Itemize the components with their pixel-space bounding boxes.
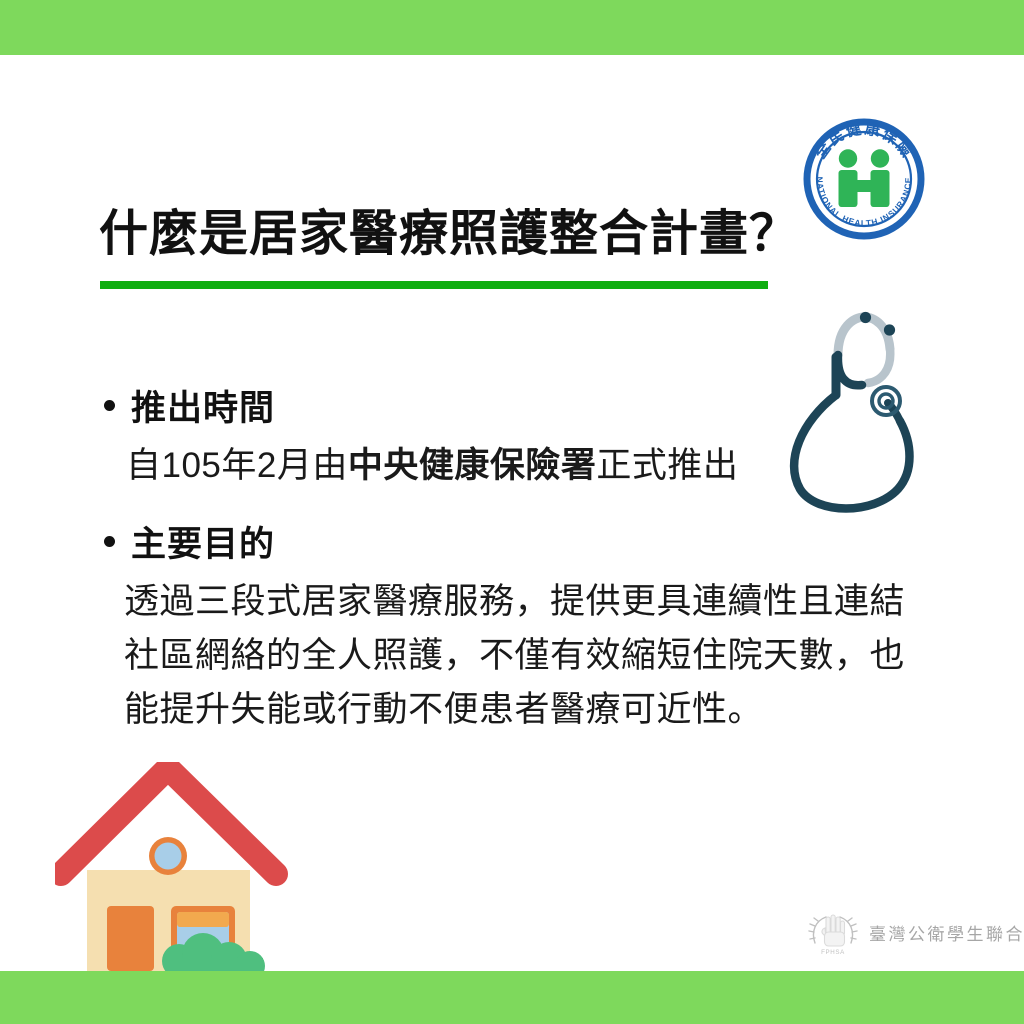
top-green-band: [0, 0, 1024, 55]
bullet-heading-launch-time: 推出時間: [131, 380, 275, 431]
bottom-green-band: [0, 971, 1024, 1024]
bullet-dot-icon: [104, 536, 115, 547]
organization-name: 臺灣公衛學生聯合會: [869, 920, 1024, 945]
footer-watermark: FPHSA 臺灣公衛學生聯合會: [806, 908, 1024, 956]
launch-time-text: 自105年2月由中央健康保險署正式推出: [126, 437, 738, 488]
nhi-logo: 全民健康保險 NATIONAL HEALTH INSURANCE: [803, 118, 925, 240]
fphsa-mark-label: FPHSA: [821, 949, 845, 956]
stethoscope-illustration: [782, 303, 942, 515]
purpose-line-3: 能提升失能或行動不便患者醫療可近性。: [124, 681, 763, 732]
title-underline-rule: [100, 281, 768, 289]
fphsa-logo-icon: FPHSA: [806, 908, 860, 956]
launch-text-post: 正式推出: [596, 446, 738, 485]
page-title: 什麼是居家醫療照護整合計畫？: [99, 206, 799, 262]
launch-text-agency: 中央健康保險署: [348, 446, 597, 485]
svg-text:全民健康保險: 全民健康保險: [811, 119, 917, 162]
bullet-launch-time: 推出時間: [104, 380, 275, 431]
bullet-main-purpose: 主要目的: [104, 516, 275, 567]
purpose-line-2: 社區網絡的全人照護，不僅有效縮短住院天數，也: [124, 627, 905, 678]
house-illustration: [55, 762, 335, 977]
slide-canvas: 全民健康保險 NATIONAL HEALTH INSURANCE 什麼是居家醫療…: [0, 0, 1024, 1024]
bullet-dot-icon: [104, 400, 115, 411]
bullet-heading-main-purpose: 主要目的: [131, 516, 275, 567]
launch-text-pre: 自105年2月由: [126, 446, 348, 485]
purpose-line-1: 透過三段式居家醫療服務，提供更具連續性且連結: [124, 573, 905, 624]
